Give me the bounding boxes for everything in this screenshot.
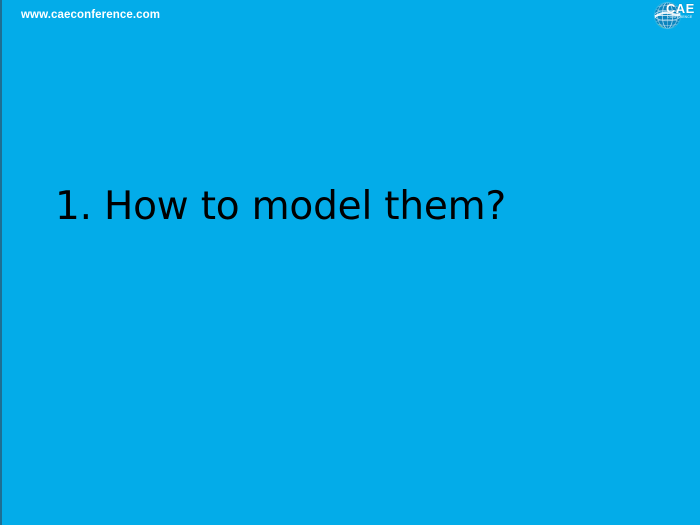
logo-text: CAE: [666, 2, 695, 15]
logo-tagline: CONFERENCE: [667, 15, 692, 19]
slide-title: 1. How to model them?: [55, 184, 506, 230]
site-url-label: www.caeconference.com: [21, 8, 160, 22]
presentation-slide: www.caeconference.com CAE: [0, 0, 700, 525]
slide-content: 1. How to model them?: [2, 32, 700, 525]
cae-logo: CAE CONFERENCE: [653, 0, 695, 31]
